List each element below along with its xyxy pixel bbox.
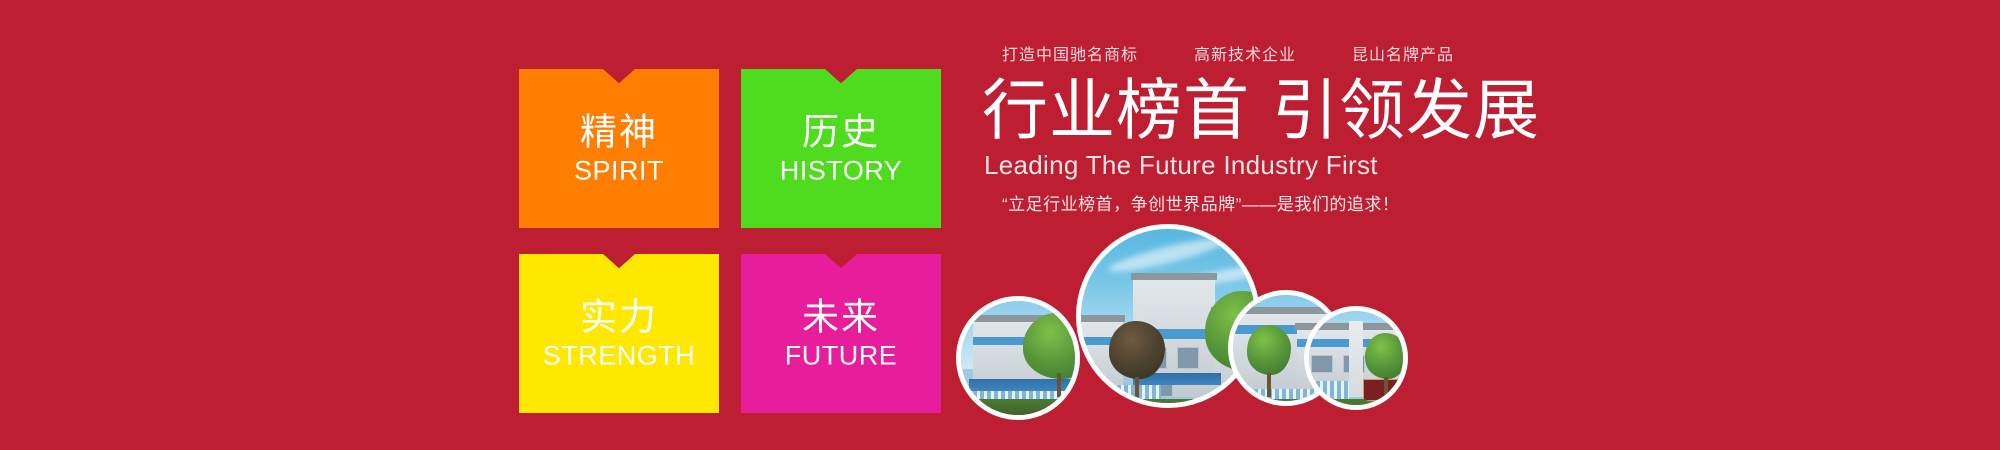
hedge xyxy=(1309,399,1369,410)
tile-future-label-en: FUTURE xyxy=(741,342,941,369)
tree xyxy=(1023,313,1080,397)
tile-spirit-label-cn: 精神 xyxy=(519,113,719,150)
collage-lobe-left xyxy=(956,296,1080,420)
tile-future-label-cn: 未来 xyxy=(741,298,941,335)
credential-item-0: 打造中国驰名商标 xyxy=(1002,48,1138,64)
tree xyxy=(1365,333,1407,397)
tile-spirit-text: 精神 SPIRIT xyxy=(519,113,719,184)
promo-banner: 精神 SPIRIT 历史 HISTORY 实力 STRENGTH 未来 FUTU… xyxy=(0,0,2000,450)
tree xyxy=(1109,321,1165,399)
tile-spirit-label-en: SPIRIT xyxy=(519,157,719,184)
hedge xyxy=(963,399,1080,419)
tagline-quote: “立足行业榜首，争创世界品牌”——是我们的追求！ xyxy=(1002,196,1540,213)
collage-lobe-right xyxy=(1304,306,1408,410)
tile-history[interactable]: 历史 HISTORY xyxy=(741,69,941,228)
tile-history-label-cn: 历史 xyxy=(741,113,941,150)
tile-future[interactable]: 未来 FUTURE xyxy=(741,254,941,413)
tile-history-text: 历史 HISTORY xyxy=(741,113,941,184)
credentials-list: 打造中国驰名商标 高新技术企业 昆山名牌产品 xyxy=(980,48,1540,64)
factory-photo-collage xyxy=(952,224,1412,450)
fence xyxy=(1309,381,1349,399)
tile-strength-text: 实力 STRENGTH xyxy=(519,298,719,369)
subtitle: Leading The Future Industry First xyxy=(984,152,1540,178)
credential-item-2: 昆山名牌产品 xyxy=(1352,48,1454,64)
tree xyxy=(1247,325,1291,397)
factory-photo-image xyxy=(1304,306,1408,410)
tile-strength-label-en: STRENGTH xyxy=(519,342,719,369)
tile-history-label-en: HISTORY xyxy=(741,157,941,184)
tile-strength[interactable]: 实力 STRENGTH xyxy=(519,254,719,413)
tile-future-text: 未来 FUTURE xyxy=(741,298,941,369)
tile-strength-label-cn: 实力 xyxy=(519,298,719,335)
headline-part-2: 引领发展 xyxy=(1272,73,1540,147)
gate-post xyxy=(1349,321,1363,397)
hedge xyxy=(1107,399,1227,408)
page-title: 行业榜首引领发展 xyxy=(982,76,1540,146)
headline-part-1: 行业榜首 xyxy=(982,73,1250,147)
tile-spirit[interactable]: 精神 SPIRIT xyxy=(519,69,719,228)
factory-photo-image xyxy=(957,296,1080,420)
headline-block: 打造中国驰名商标 高新技术企业 昆山名牌产品 行业榜首引领发展 Leading … xyxy=(980,48,1540,213)
credential-item-1: 高新技术企业 xyxy=(1194,48,1296,64)
value-tiles: 精神 SPIRIT 历史 HISTORY 实力 STRENGTH 未来 FUTU… xyxy=(519,69,941,412)
